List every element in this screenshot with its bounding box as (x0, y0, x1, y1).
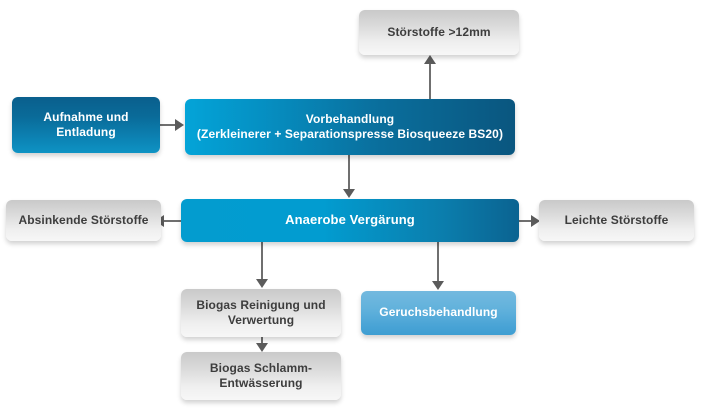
node-biogas-schlamm-entwaesserung-label: Biogas Schlamm- Entwässerung (210, 361, 312, 392)
node-geruchsbehandlung-label: Geruchsbehandlung (379, 305, 497, 320)
node-stoerstoffe-12mm-label: Störstoffe >12mm (387, 25, 490, 40)
node-biogas-reinigung-und-verwertung[interactable]: Biogas Reinigung und Verwertung (181, 289, 341, 337)
connector-anaerobe-to-geruch-arrowhead (432, 281, 444, 290)
node-anaerobe-vergaerung-label: Anaerobe Vergärung (285, 212, 415, 229)
connector-aufnahme-to-vorbehandlung-arrowhead (175, 119, 184, 131)
connector-biogas-reinigung-to-biogas-schlamm-arrowhead (256, 343, 268, 352)
connector-anaerobe-to-geruch-line (437, 242, 439, 283)
node-geruchsbehandlung[interactable]: Geruchsbehandlung (361, 291, 516, 335)
connector-anaerobe-to-absinkende-line (164, 220, 181, 222)
node-aufnahme-und-entladung[interactable]: Aufnahme und Entladung (12, 97, 160, 153)
flowchart-canvas: Störstoffe >12mm Aufnahme und Entladung … (0, 0, 704, 411)
node-aufnahme-und-entladung-label: Aufnahme und Entladung (43, 110, 128, 141)
node-stoerstoffe-12mm[interactable]: Störstoffe >12mm (359, 10, 519, 55)
node-vorbehandlung[interactable]: Vorbehandlung (Zerkleinerer + Separation… (185, 99, 515, 155)
connector-vorbehandlung-to-anaerobe-line (348, 155, 350, 191)
connector-anaerobe-to-biogas-reinigung-arrowhead (256, 279, 268, 288)
node-leichte-stoerstoffe[interactable]: Leichte Störstoffe (539, 200, 694, 241)
node-vorbehandlung-label: Vorbehandlung (Zerkleinerer + Separation… (197, 112, 503, 143)
node-biogas-schlamm-entwaesserung[interactable]: Biogas Schlamm- Entwässerung (181, 352, 341, 400)
connector-vorbehandlung-to-stoerstoffe12-line (429, 61, 431, 99)
connector-anaerobe-to-biogas-reinigung-line (261, 242, 263, 281)
node-anaerobe-vergaerung[interactable]: Anaerobe Vergärung (181, 199, 519, 242)
node-leichte-stoerstoffe-label: Leichte Störstoffe (565, 213, 669, 228)
connector-vorbehandlung-to-stoerstoffe12-arrowhead (424, 55, 436, 64)
connector-vorbehandlung-to-anaerobe-arrowhead (343, 189, 355, 198)
node-biogas-reinigung-und-verwertung-label: Biogas Reinigung und Verwertung (196, 298, 325, 329)
node-absinkende-stoerstoffe[interactable]: Absinkende Störstoffe (6, 200, 161, 241)
node-absinkende-stoerstoffe-label: Absinkende Störstoffe (18, 213, 148, 228)
connector-aufnahme-to-vorbehandlung-line (160, 124, 176, 126)
